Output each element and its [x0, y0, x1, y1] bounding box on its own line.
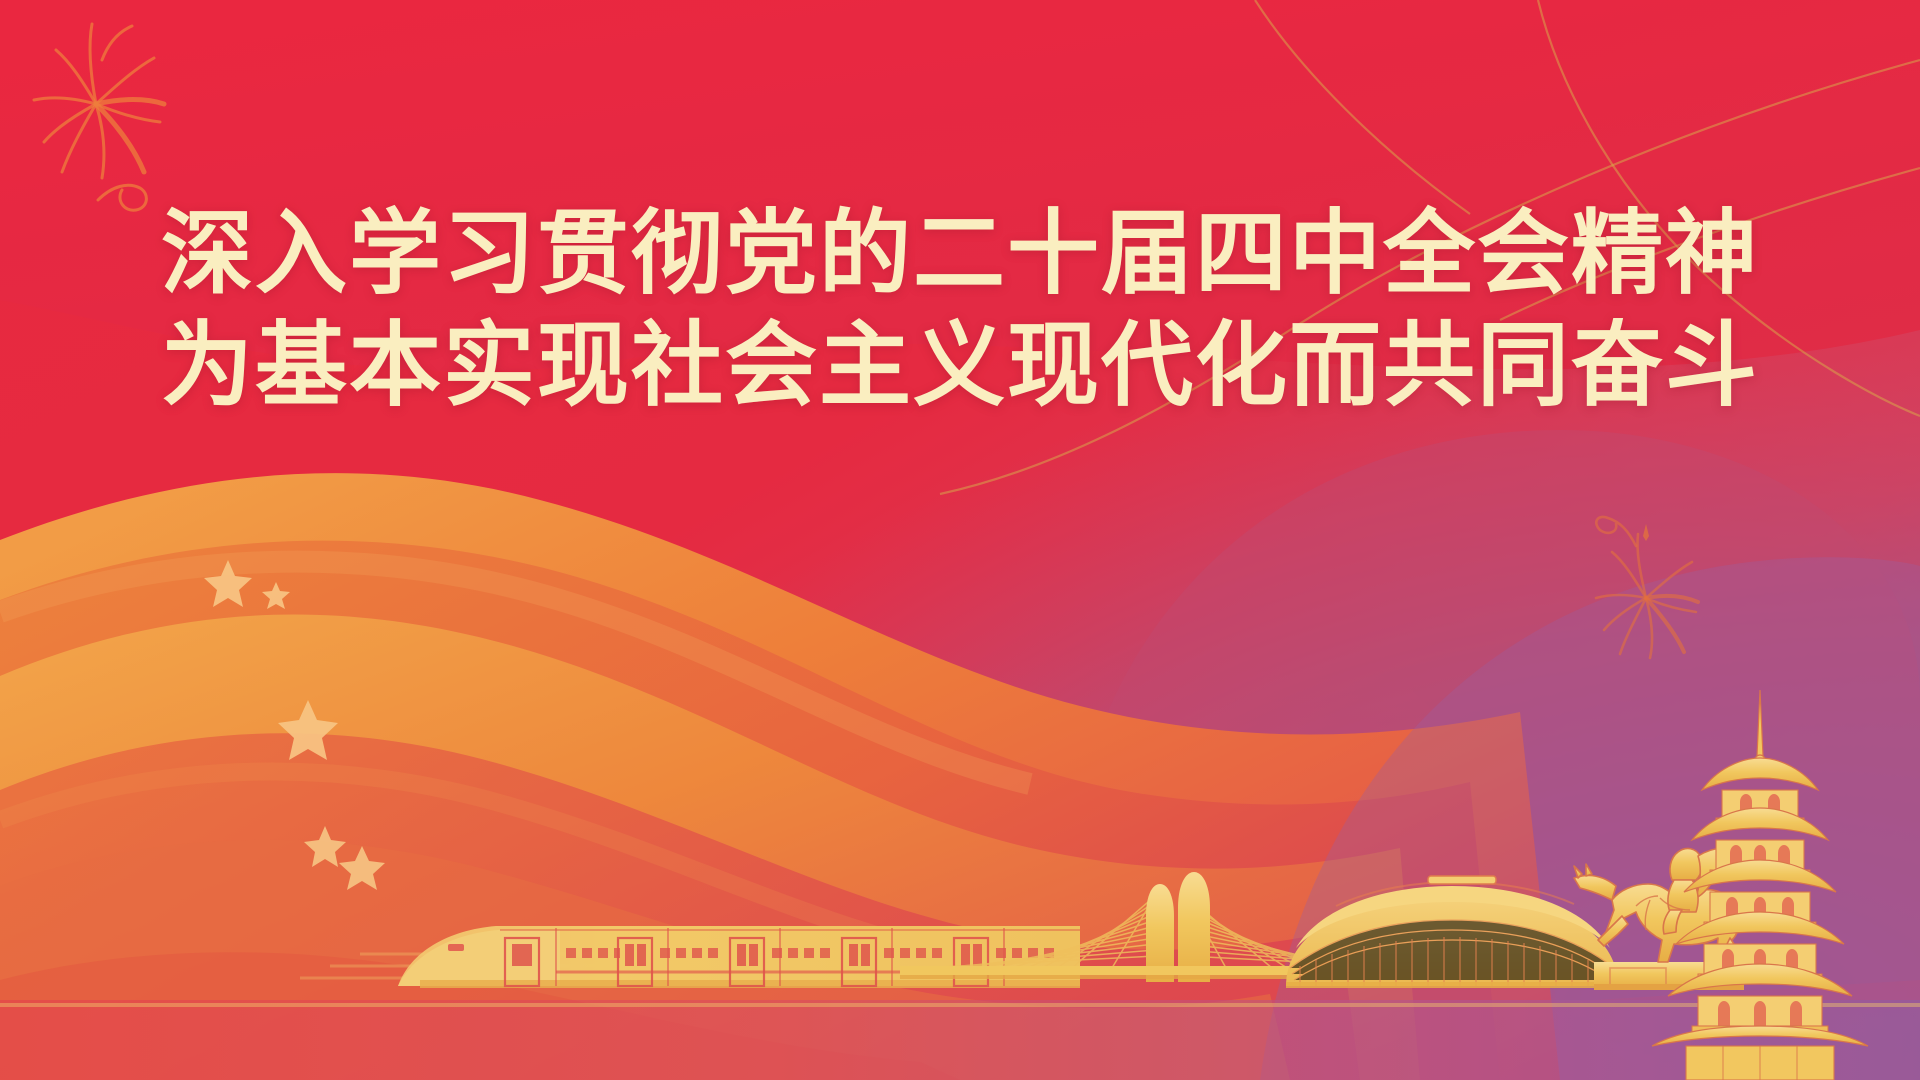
skyline-illustration [0, 0, 1920, 1080]
poster-canvas: 深入学习贯彻党的二十届四中全会精神 为基本实现社会主义现代化而共同奋斗 [0, 0, 1920, 1080]
stadium-icon [1286, 876, 1618, 988]
